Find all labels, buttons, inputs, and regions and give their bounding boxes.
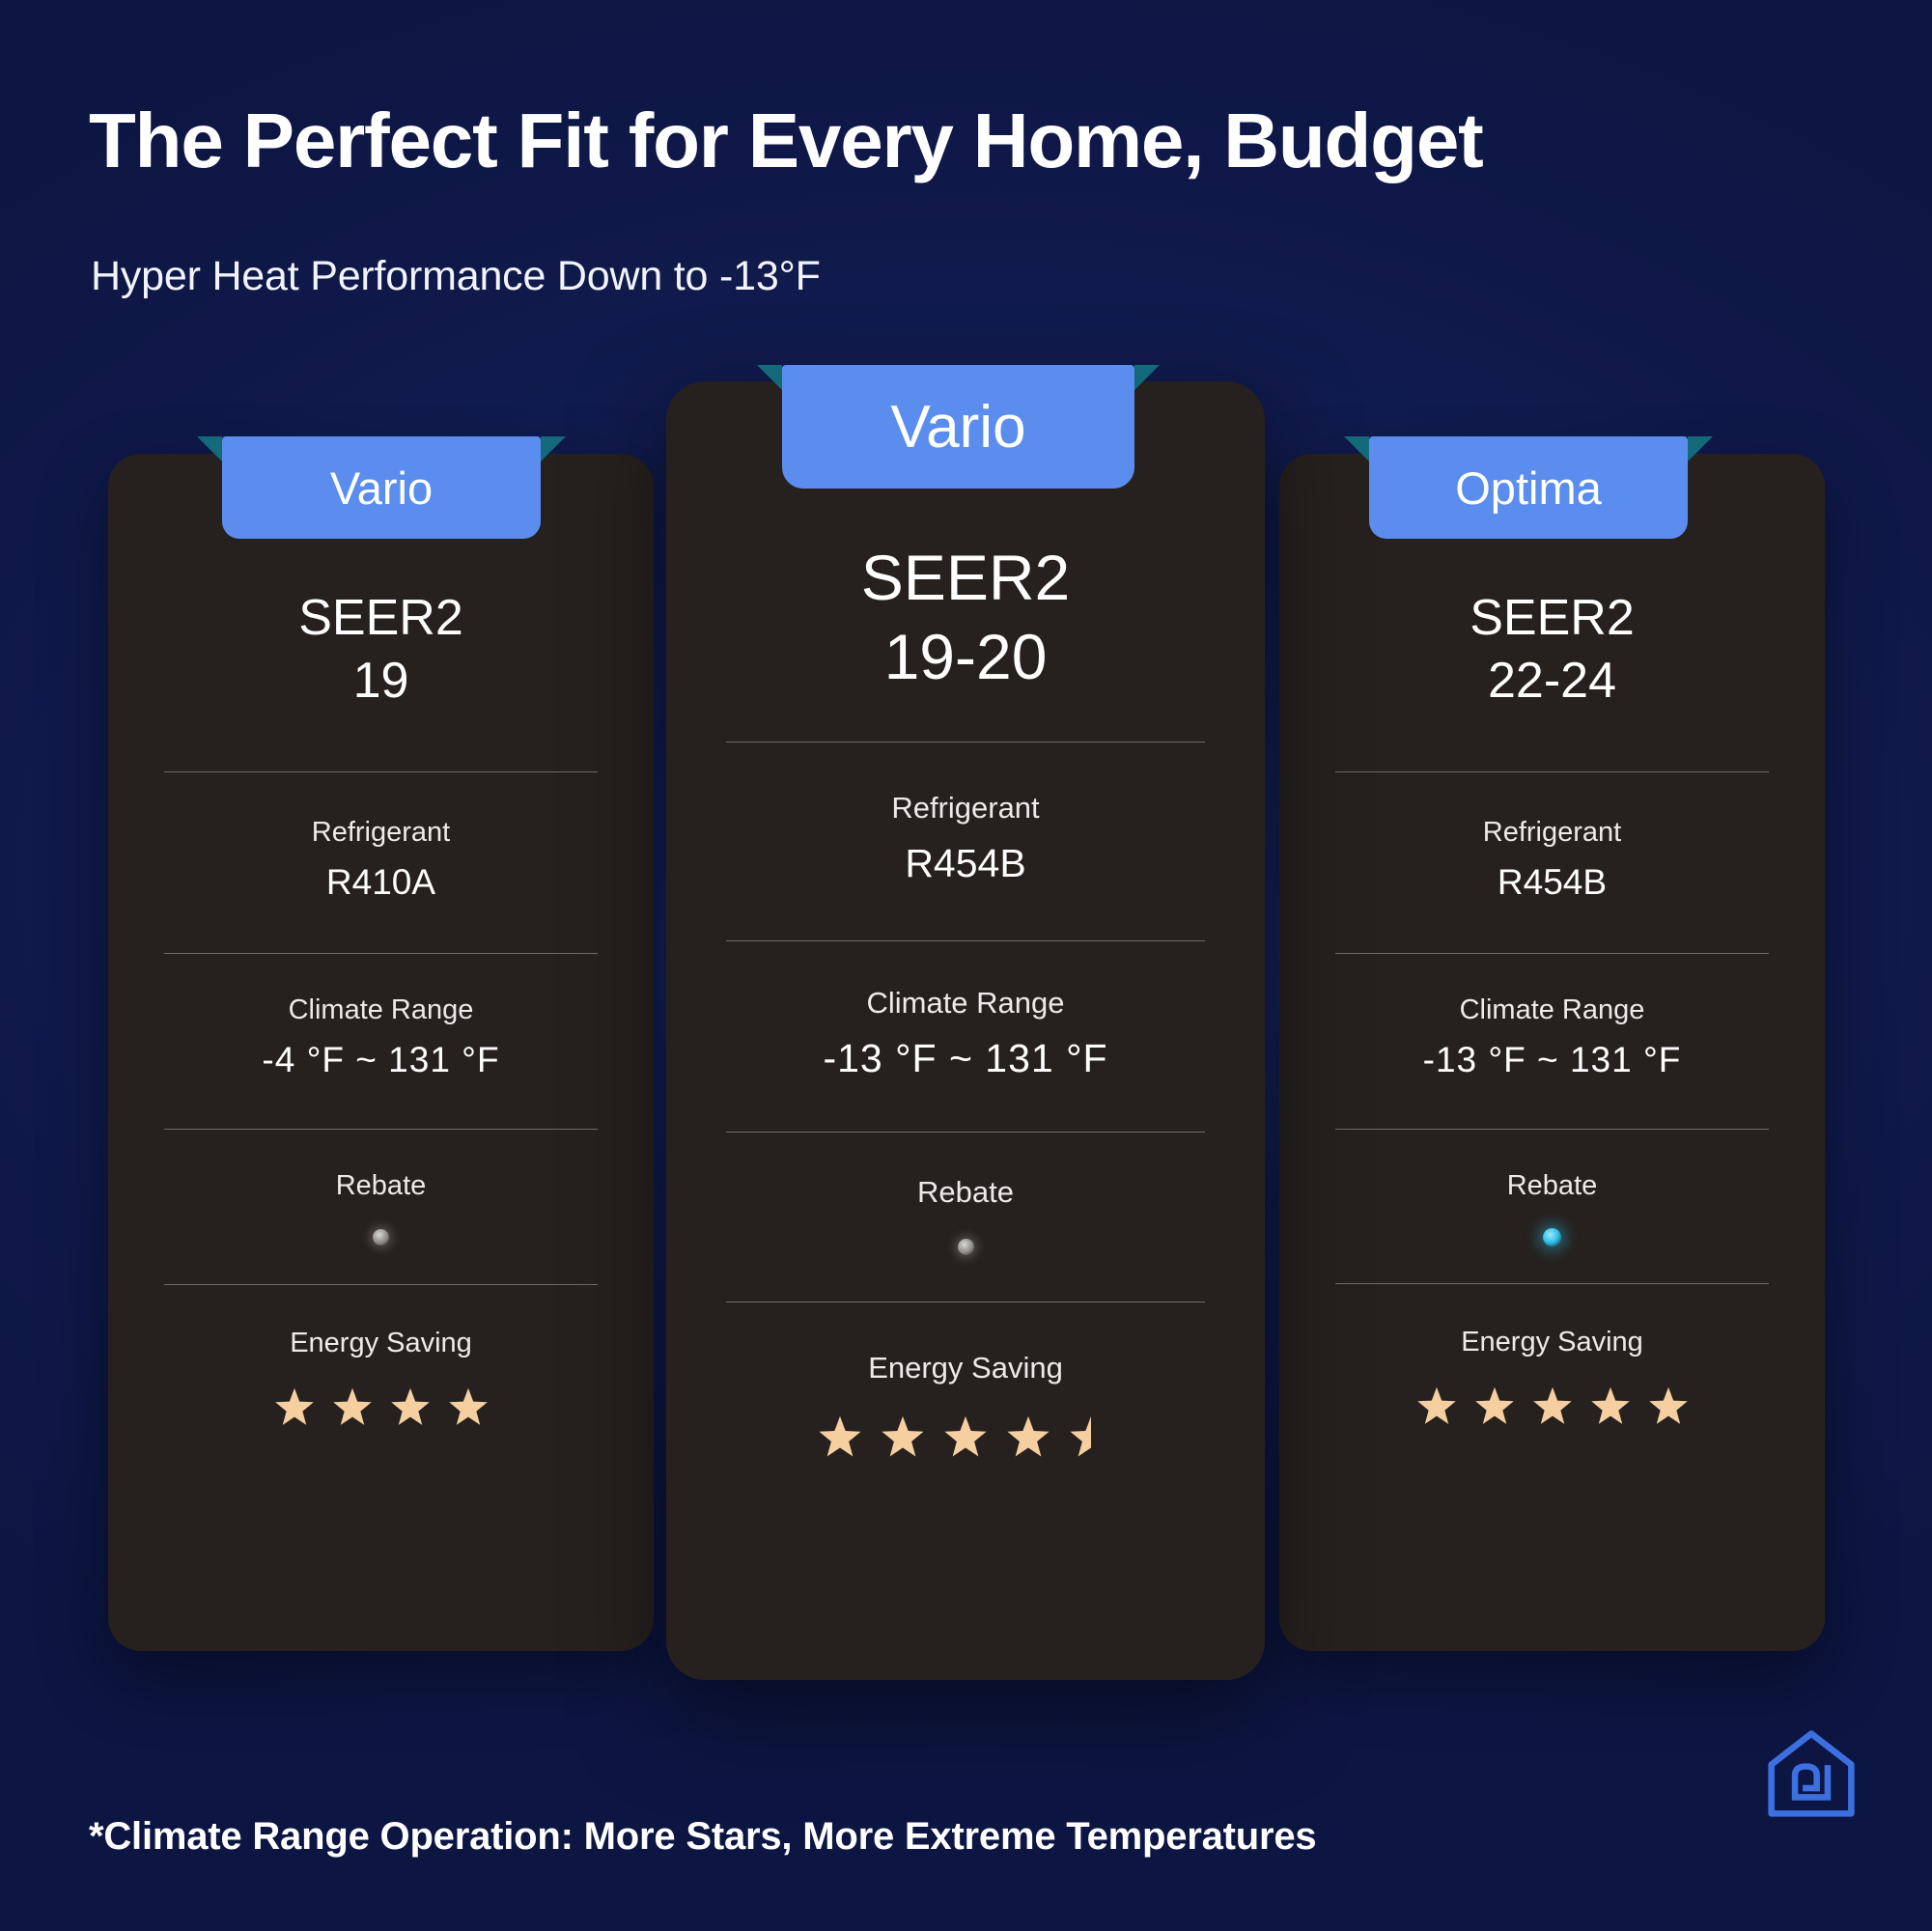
seer-label: SEER2 bbox=[298, 589, 463, 648]
divider bbox=[726, 1301, 1205, 1302]
divider bbox=[164, 771, 598, 772]
divider bbox=[1335, 953, 1769, 954]
ribbon-fold-left-icon bbox=[757, 365, 782, 390]
product-banner-vario-left[interactable]: Vario bbox=[222, 436, 541, 539]
seer-value: 19-20 bbox=[884, 620, 1048, 695]
divider bbox=[726, 742, 1205, 742]
divider bbox=[726, 940, 1205, 941]
energy-saving-label: Energy Saving bbox=[290, 1328, 472, 1359]
seer-value: 22-24 bbox=[1488, 652, 1616, 711]
page-title: The Perfect Fit for Every Home, Budget bbox=[89, 97, 1483, 185]
ribbon-fold-left-icon bbox=[1344, 436, 1369, 462]
star-icon bbox=[389, 1386, 432, 1429]
ribbon-fold-right-icon bbox=[1688, 436, 1713, 462]
product-card-vario-center-featured[interactable]: SEER2 19-20 Refrigerant R454B Climate Ra… bbox=[666, 381, 1265, 1680]
star-icon bbox=[331, 1386, 374, 1429]
banner-label: Vario bbox=[890, 393, 1025, 462]
refrigerant-label: Refrigerant bbox=[1483, 817, 1621, 849]
banner-label: Optima bbox=[1455, 462, 1602, 515]
product-card-optima-right[interactable]: SEER2 22-24 Refrigerant R454B Climate Ra… bbox=[1279, 454, 1825, 1651]
star-icon bbox=[942, 1414, 989, 1461]
star-icon bbox=[1005, 1414, 1051, 1461]
banner-label: Vario bbox=[330, 462, 433, 515]
divider bbox=[164, 1284, 598, 1285]
star-icon bbox=[880, 1414, 926, 1461]
seer-label: SEER2 bbox=[1470, 589, 1635, 648]
star-icon bbox=[817, 1414, 863, 1461]
rebate-indicator-dot bbox=[958, 1239, 974, 1255]
divider bbox=[164, 953, 598, 954]
card-content-vario-center: SEER2 19-20 Refrigerant R454B Climate Ra… bbox=[666, 381, 1265, 1680]
house-spiral-logo-icon bbox=[1766, 1728, 1857, 1819]
seer-value: 19 bbox=[353, 652, 409, 711]
rebate-label: Rebate bbox=[917, 1175, 1014, 1210]
ribbon-fold-right-icon bbox=[1134, 365, 1160, 390]
star-icon bbox=[273, 1386, 316, 1429]
card-content-optima-right: SEER2 22-24 Refrigerant R454B Climate Ra… bbox=[1279, 454, 1825, 1651]
refrigerant-value: R454B bbox=[905, 841, 1025, 886]
energy-saving-label: Energy Saving bbox=[1461, 1327, 1643, 1358]
half-star-icon bbox=[1068, 1414, 1114, 1461]
page-subtitle: Hyper Heat Performance Down to -13°F bbox=[91, 253, 821, 300]
climate-range-label: Climate Range bbox=[866, 986, 1064, 1021]
ribbon-fold-right-icon bbox=[541, 436, 566, 462]
product-banner-vario-center[interactable]: Vario bbox=[782, 365, 1134, 489]
divider bbox=[1335, 1129, 1769, 1130]
climate-range-value: -13 °F ~ 131 °F bbox=[823, 1036, 1107, 1081]
energy-saving-star-rating bbox=[1415, 1385, 1690, 1428]
star-icon bbox=[1589, 1385, 1632, 1428]
refrigerant-label: Refrigerant bbox=[891, 791, 1039, 826]
rebate-label: Rebate bbox=[336, 1170, 427, 1202]
star-icon bbox=[1473, 1385, 1516, 1428]
climate-range-value: -13 °F ~ 131 °F bbox=[1423, 1040, 1682, 1080]
divider bbox=[726, 1132, 1205, 1133]
rebate-indicator-dot bbox=[373, 1229, 389, 1245]
refrigerant-label: Refrigerant bbox=[312, 817, 450, 849]
rebate-indicator-dot bbox=[1543, 1228, 1561, 1246]
energy-saving-label: Energy Saving bbox=[868, 1351, 1063, 1385]
star-icon bbox=[1415, 1385, 1458, 1428]
refrigerant-value: R410A bbox=[326, 862, 435, 903]
divider bbox=[1335, 1283, 1769, 1284]
card-content-vario-left: SEER2 19 Refrigerant R410A Climate Range… bbox=[108, 454, 654, 1651]
star-icon bbox=[1531, 1385, 1574, 1428]
climate-range-value: -4 °F ~ 131 °F bbox=[262, 1040, 499, 1080]
climate-range-label: Climate Range bbox=[289, 994, 474, 1026]
star-icon bbox=[1647, 1385, 1690, 1428]
footnote-text: *Climate Range Operation: More Stars, Mo… bbox=[89, 1815, 1316, 1859]
ribbon-fold-left-icon bbox=[197, 436, 222, 462]
divider bbox=[1335, 771, 1769, 772]
seer-label: SEER2 bbox=[861, 541, 1070, 616]
energy-saving-star-rating bbox=[817, 1414, 1114, 1461]
divider bbox=[164, 1129, 598, 1130]
energy-saving-star-rating bbox=[273, 1386, 490, 1429]
product-banner-optima-right[interactable]: Optima bbox=[1369, 436, 1688, 539]
star-icon bbox=[447, 1386, 490, 1429]
rebate-label: Rebate bbox=[1507, 1170, 1598, 1202]
infographic-canvas: The Perfect Fit for Every Home, Budget H… bbox=[0, 0, 1932, 1931]
refrigerant-value: R454B bbox=[1498, 862, 1607, 903]
climate-range-label: Climate Range bbox=[1460, 994, 1645, 1026]
product-card-vario-left[interactable]: SEER2 19 Refrigerant R410A Climate Range… bbox=[108, 454, 654, 1651]
